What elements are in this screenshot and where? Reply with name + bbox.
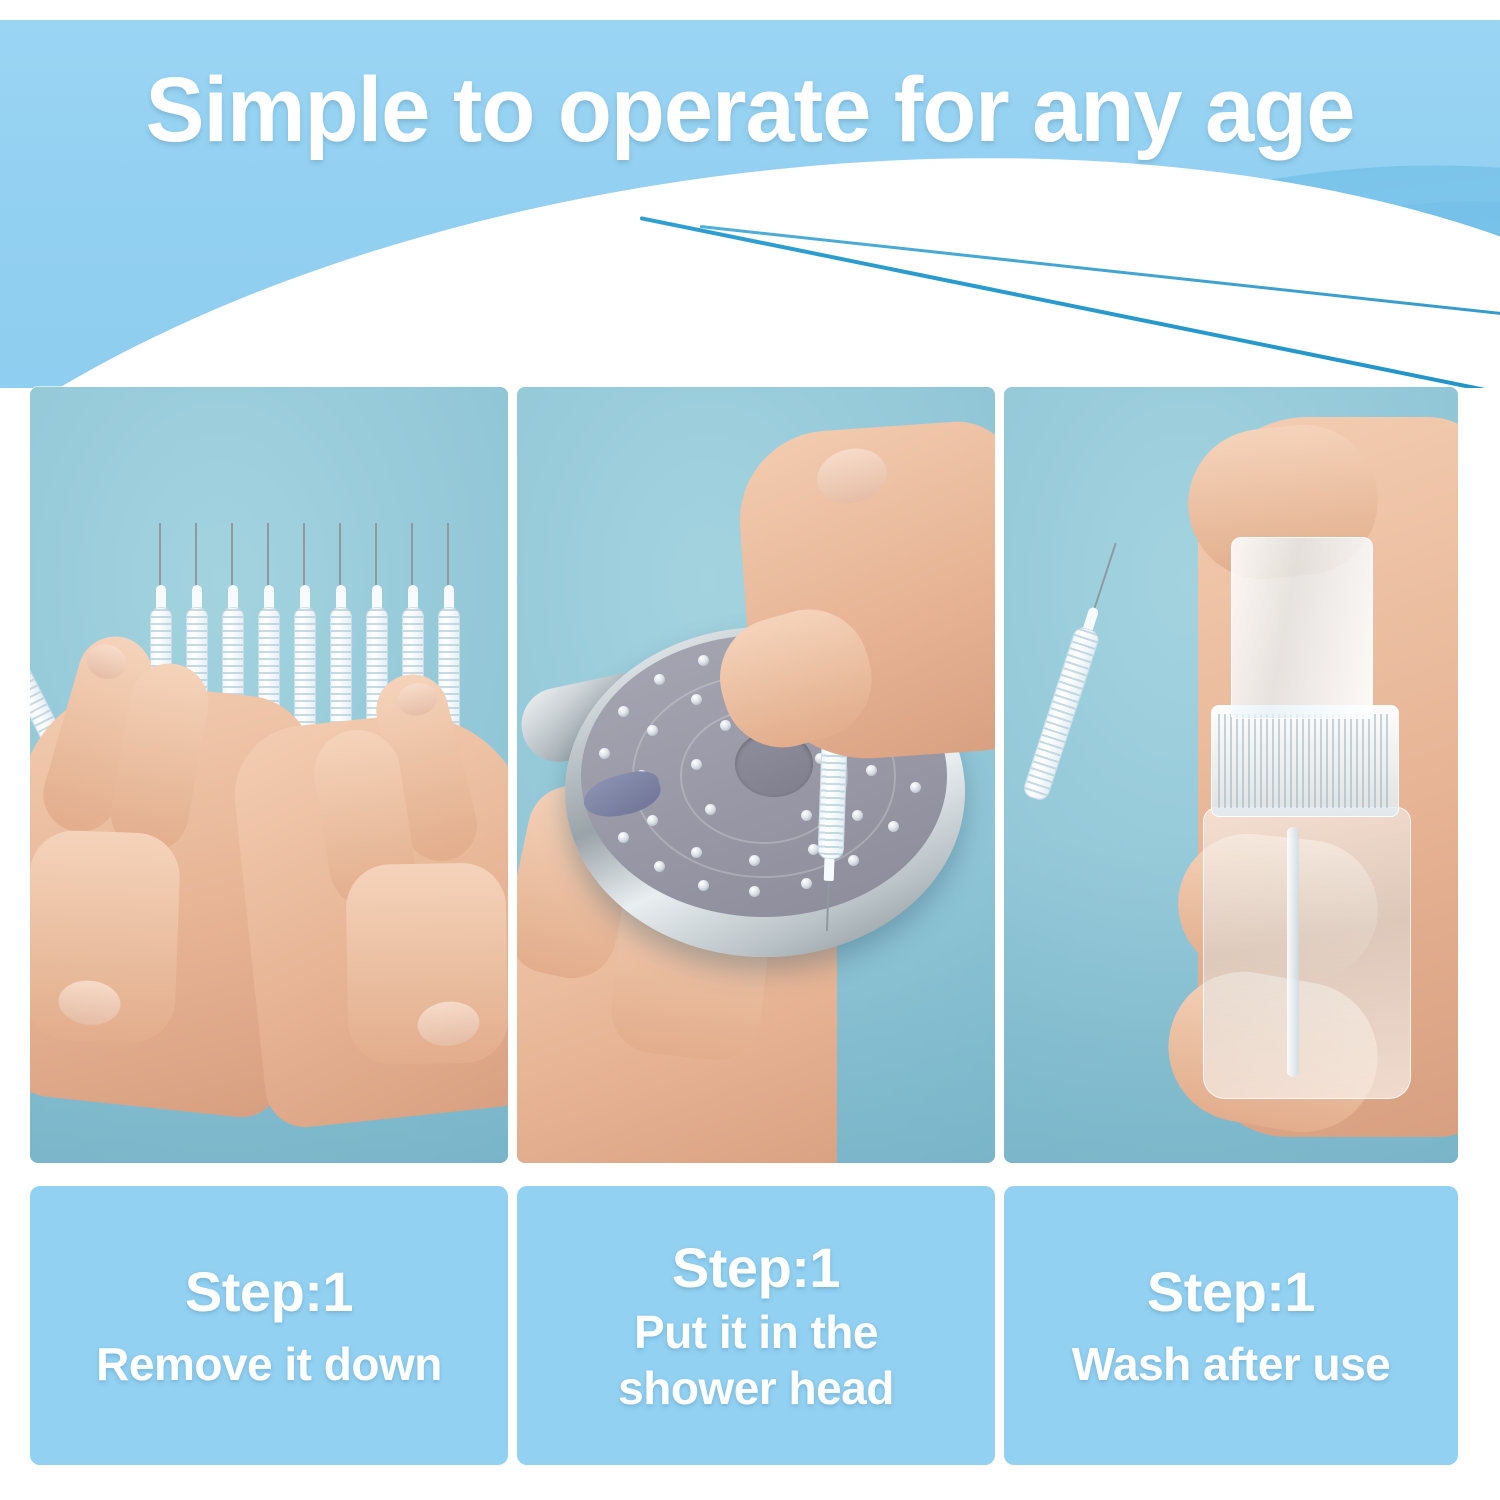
photo-panel-remove-brush xyxy=(30,387,508,1163)
hand-holding-brush xyxy=(734,418,995,767)
caption-step-label: Step:1 xyxy=(672,1236,840,1300)
bottle-body xyxy=(1203,807,1411,1099)
bottle-cap xyxy=(1231,537,1373,719)
caption-text-line-1: Remove it down xyxy=(82,1336,456,1392)
caption-text-line-1: Wash after use xyxy=(1058,1336,1405,1392)
caption-card-step-1: Step:1 Remove it down xyxy=(30,1186,508,1465)
caption-text-line-2: shower head xyxy=(604,1360,908,1416)
photo-panel-wash-brush xyxy=(1004,387,1458,1163)
bottle-collar xyxy=(1211,705,1399,817)
caption-card-step-3: Step:1 Wash after use xyxy=(1004,1186,1458,1465)
hand-right xyxy=(228,703,508,1131)
caption-step-label: Step:1 xyxy=(1147,1260,1315,1324)
caption-step-label: Step:1 xyxy=(185,1260,353,1324)
fingernail xyxy=(811,441,892,510)
photo-panel-insert-brush xyxy=(517,387,995,1163)
caption-text-line-1: Put it in the xyxy=(620,1304,892,1360)
bottle-dip-tube xyxy=(1287,827,1299,1077)
infographic-page: Simple to operate for any age xyxy=(0,0,1500,1500)
caption-card-step-2: Step:1 Put it in the shower head xyxy=(517,1186,995,1465)
spray-bottle xyxy=(1195,537,1430,1097)
